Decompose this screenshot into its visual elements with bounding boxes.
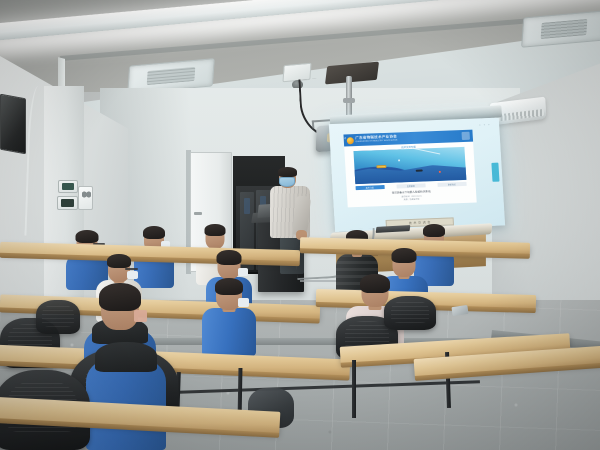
desk-leg — [352, 360, 356, 418]
hair — [423, 224, 445, 237]
menu-button-icon[interactable] — [461, 132, 469, 140]
av-control-panel-upper[interactable] — [58, 180, 78, 193]
hair — [360, 274, 390, 293]
chair-mesh-back — [391, 300, 428, 322]
face-mask-icon — [238, 268, 248, 276]
hair — [76, 230, 99, 243]
projector-pole-joint — [343, 98, 355, 103]
hero-submersible-icon — [376, 164, 386, 168]
wall-mounted-speaker-icon — [0, 94, 26, 155]
back-arrow-icon[interactable]: ‹ — [344, 136, 346, 141]
floating-side-tab[interactable] — [491, 163, 499, 182]
eyeglasses-icon — [125, 268, 138, 270]
blue-uniform-torso — [202, 308, 256, 356]
hair — [217, 250, 242, 265]
attendee-blue-mid-left — [202, 280, 256, 352]
cabinet-indicator-icon — [244, 198, 250, 214]
black-hoodie-collar — [95, 342, 157, 372]
slide-header-title-en: GUANGDONG IOT INDUSTRY ASSOCIATION — [355, 140, 397, 144]
hair — [99, 283, 141, 311]
face-mask-icon — [238, 298, 249, 307]
hair — [392, 248, 417, 263]
av-control-panel-lower[interactable] — [57, 196, 78, 210]
slide-tab-0[interactable]: 技术介绍 — [355, 185, 384, 191]
hair — [205, 224, 226, 236]
training-room-photo: • • • ‹ 广东省物联技术产业协会 GUANGDONG IOT INDUST… — [0, 0, 600, 450]
underwater-subsea-illustration — [353, 147, 466, 185]
wall-power-outlet-icon — [78, 186, 93, 210]
projected-slide: ‹ 广东省物联技术产业协会 GUANGDONG IOT INDUSTRY ASS… — [343, 129, 476, 207]
hero-seabed-shape — [353, 160, 466, 185]
door-handle-icon[interactable] — [194, 212, 202, 215]
chair-mesh-back — [42, 304, 74, 326]
office-chair-blue-attendee[interactable] — [384, 296, 436, 330]
hair — [107, 254, 131, 268]
projection-screen: • • • ‹ 广东省物联技术产业协会 GUANGDONG IOT INDUST… — [329, 118, 505, 232]
face-mask-icon — [127, 271, 138, 279]
slide-tab-1[interactable]: 应用案例 — [396, 183, 425, 189]
hair — [143, 226, 165, 239]
office-chair-empty-left-rear[interactable] — [36, 300, 80, 334]
slide-tab-2[interactable]: 联系我们 — [437, 182, 466, 188]
slide-corner-dots: • • • — [479, 122, 491, 127]
hero-bubble-icon — [398, 159, 400, 161]
hair — [215, 278, 243, 295]
face-mask-icon — [134, 310, 147, 322]
presenter-hair — [278, 167, 297, 177]
association-logo-icon — [346, 137, 353, 144]
blue-surgical-mask-icon — [279, 177, 295, 187]
